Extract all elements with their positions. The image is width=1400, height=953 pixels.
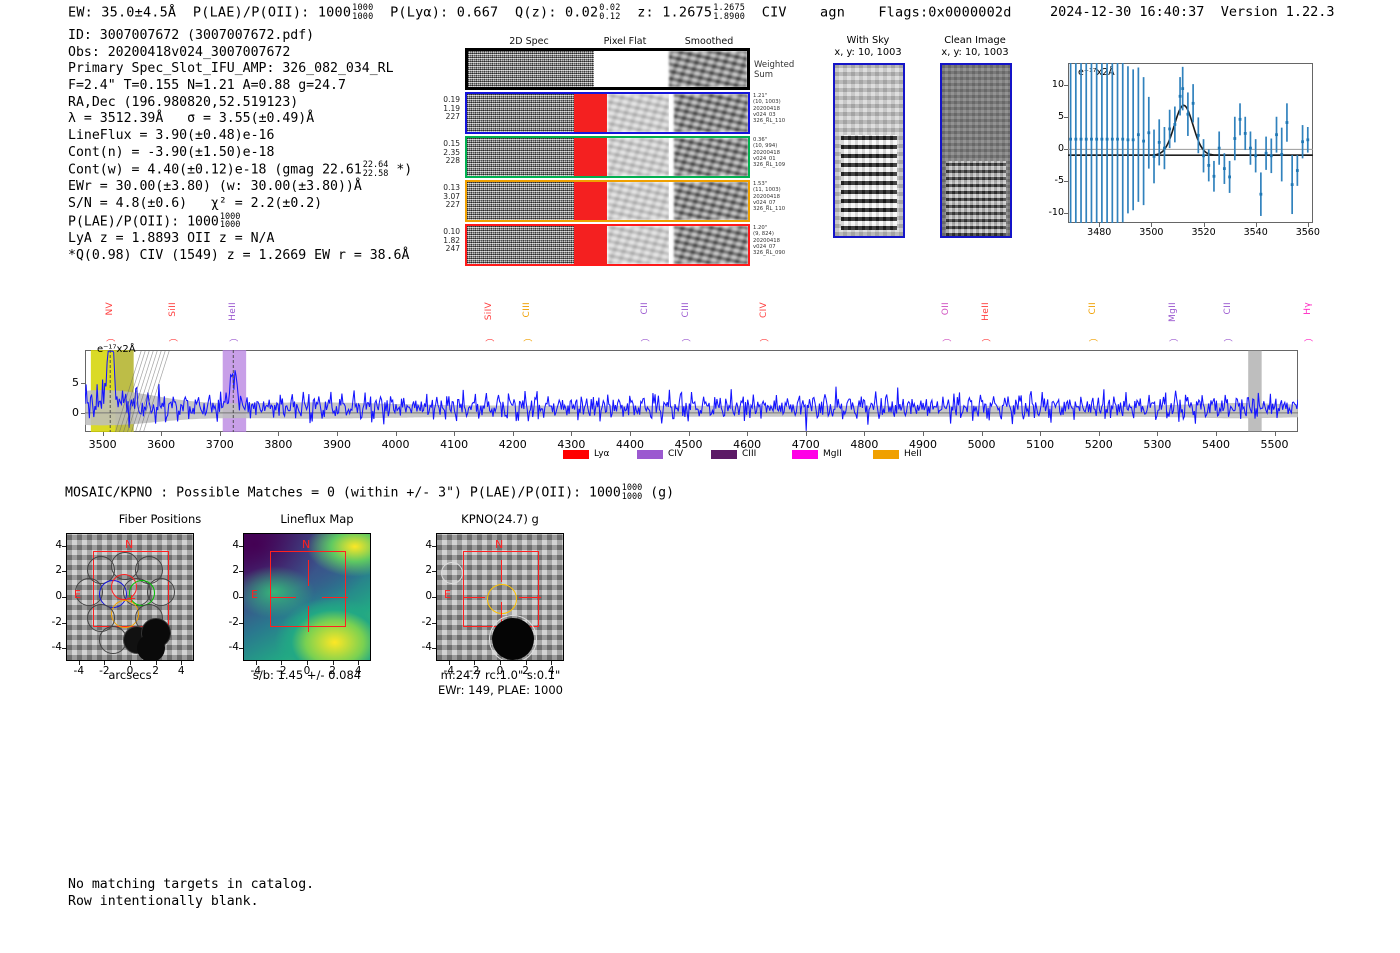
info-obs: Obs: 20200418v024_3007007672: [68, 45, 412, 62]
emission-line-label: CII: [1088, 302, 1098, 315]
full-spectrum-y-tick: 0: [59, 406, 79, 419]
full-spectrum-x-tick: 5200: [1069, 438, 1129, 451]
full-spectrum-x-tick: 5000: [952, 438, 1012, 451]
fiber-right-labels-2: 0.36" (10, 994) 20200418 v024_01 326_RL_…: [753, 137, 785, 168]
full-spectrum-x-tick: 3600: [131, 438, 191, 451]
info-redshifts: LyA z = 1.8893 OII z = N/A: [68, 231, 412, 248]
axis-tick-y: 2: [42, 564, 62, 576]
fiber-right-labels-4: 1.20" (9, 824) 20200418 v024_07 326_RL_0…: [753, 225, 785, 256]
lineflux-map-image[interactable]: N E: [243, 533, 371, 661]
emission-line-label: HeII: [981, 302, 991, 321]
info-ewr: EWr = 30.00(±3.80) (w: 30.00(±3.80))Å: [68, 179, 412, 196]
compass-east-label-3: E: [444, 588, 451, 601]
info-cont-n: Cont(n) = -3.90(±1.50)e-18: [68, 145, 412, 162]
axis-tick-y: 0: [412, 590, 432, 602]
header-timestamp: 2024-12-30 16:40:37: [1050, 4, 1204, 20]
header-classification: agn: [820, 5, 845, 21]
axis-tick-y: 2: [219, 564, 239, 576]
info-plae-lo: 1000: [220, 220, 240, 230]
full-spectrum-x-tick: 4200: [483, 438, 543, 451]
info-cont-w-text: Cont(w) = 4.40(±0.12)e-18 (gmag 22.61: [68, 163, 362, 178]
emission-line-label: SiII: [168, 302, 178, 317]
compass-north-label-3: N: [495, 538, 503, 551]
line-profile-x-tick: 3500: [1125, 227, 1177, 238]
header-z-lo: 1.8900: [713, 12, 745, 22]
header-plae-label: P(LAE)/P(OII): 1000: [193, 5, 351, 21]
info-id: ID: 3007007672 (3007007672.pdf): [68, 28, 412, 45]
fiber-strip-3: [465, 180, 750, 222]
legend-swatch: [873, 450, 899, 459]
crosshair-v-bottom: [308, 606, 309, 632]
info-seeing: F=2.4" T=0.155 N=1.21 A=0.88 g=24.7: [68, 78, 412, 95]
kpno-faint-source: [441, 562, 463, 584]
full-spectrum-x-tick: 5400: [1186, 438, 1246, 451]
compass-east-label-1: E: [74, 588, 81, 601]
axis-tick-y: -4: [412, 641, 432, 653]
header-timestamp-block: 2024-12-30 16:40:37 Version 1.22.3: [1050, 4, 1335, 20]
header-ew: EW: 35.0±4.5Å: [68, 5, 176, 21]
emission-line-label: NV: [105, 302, 115, 316]
emission-line-marker: ⌒: [1224, 337, 1233, 350]
line-profile-y-tick: 0: [1026, 143, 1064, 154]
fiber-right-labels-3: 1.53" (11, 1003) 20200418 v024_07 326_RL…: [753, 181, 785, 212]
weighted-sum-label: WeightedSum: [754, 60, 800, 80]
mosaic-headline-text: MOSAIC/KPNO : Possible Matches = 0 (with…: [65, 486, 621, 501]
kpno-xlabel: m:24.7 rc:1.0" s:0.1": [428, 668, 573, 682]
axis-tick-y: -2: [42, 616, 62, 628]
header-qz-label: Q(z): 0.02: [515, 5, 598, 21]
info-solution: *Q(0.98) CIV (1549) z = 1.2669 EW r = 38…: [68, 248, 412, 265]
full-spectrum-y-tick: 5: [59, 376, 79, 389]
weighted-sum-strip: [465, 48, 750, 90]
cutout-clean-image[interactable]: [940, 63, 1012, 238]
crosshair-h-left: [463, 597, 485, 598]
crosshair-h-left: [270, 597, 296, 598]
axis-tick-y: 0: [42, 590, 62, 602]
emission-line-marker: ⌒: [641, 337, 650, 350]
fiber-right-labels-1: 1.21" (10, 1003) 20200418 v024_03 326_RL…: [753, 93, 785, 124]
header-plae-lo: 1000: [352, 12, 373, 22]
source-info-block: ID: 3007007672 (3007007672.pdf) Obs: 202…: [68, 28, 412, 264]
emission-line-marker: ⌒: [169, 337, 178, 350]
fiber-center-marker: +: [127, 592, 136, 605]
emission-line-label: CIII: [681, 302, 691, 317]
legend-label: MgII: [823, 449, 842, 459]
info-sn: S/N = 4.8(±0.6): [68, 196, 187, 211]
legend-label: Lyα: [594, 449, 609, 459]
footer-line-2: Row intentionally blank.: [68, 893, 314, 910]
emission-line-marker: ⌒: [682, 337, 691, 350]
emission-line-label: HeII: [228, 302, 238, 321]
legend-swatch: [563, 450, 589, 459]
legend-label: HeII: [904, 449, 922, 459]
cutout-caption-with-sky: With Sky x, y: 10, 1003: [818, 35, 918, 59]
axis-tick-y: 2: [412, 564, 432, 576]
info-cont-w-lo: 22.58: [363, 169, 389, 179]
line-profile-y-tick: -5: [1026, 175, 1064, 186]
line-profile-x-tick: 3520: [1178, 227, 1230, 238]
full-spectrum-x-tick: 3500: [73, 438, 133, 451]
line-profile-y-tick: -10: [1026, 207, 1064, 218]
crosshair-h-right: [519, 597, 541, 598]
line-profile-y-tick: 5: [1026, 111, 1064, 122]
full-spectrum-x-tick: 3700: [190, 438, 250, 451]
axis-tick-y: 4: [219, 539, 239, 551]
fiber-strip-1: [465, 92, 750, 134]
legend-label: CIV: [668, 449, 683, 459]
info-lambda-sigma: λ = 3512.39Å σ = 3.55(±0.49)Å: [68, 111, 412, 128]
lineflux-map-title: Lineflux Map: [222, 512, 412, 526]
legend-swatch: [711, 450, 737, 459]
fiber-positions-image[interactable]: + N E: [66, 533, 194, 661]
info-primary-spec: Primary Spec_Slot_IFU_AMP: 326_082_034_R…: [68, 61, 412, 78]
axis-tick-y: 0: [219, 590, 239, 602]
header-version: Version 1.22.3: [1221, 4, 1335, 20]
info-plae: P(LAE)/P(OII): 100010001000: [68, 213, 412, 231]
axis-tick-y: -4: [42, 641, 62, 653]
axis-tick-y: -2: [412, 616, 432, 628]
axis-tick-y: 4: [412, 539, 432, 551]
panel-title-smoothed: Smoothed: [674, 36, 744, 47]
kpno-source-halo: [489, 615, 537, 661]
full-spectrum-x-tick: 5100: [1010, 438, 1070, 451]
emission-line-marker: ⌒: [1169, 337, 1178, 350]
legend-swatch: [792, 450, 818, 459]
footer-block: No matching targets in catalog. Row inte…: [68, 876, 314, 910]
full-spectrum-x-tick: 3900: [307, 438, 367, 451]
info-lineflux: LineFlux = 3.90(±0.48)e-16: [68, 128, 412, 145]
fiber-positions-xlabel: arcsecs: [60, 668, 200, 682]
legend-swatch: [637, 450, 663, 459]
header-plya: P(Lyα): 0.667: [390, 5, 498, 21]
emission-line-label: CIV: [759, 302, 769, 318]
emission-line-marker: ⌒: [982, 337, 991, 350]
full-spectrum-x-tick: 4900: [893, 438, 953, 451]
emission-line-marker: ⌒: [1089, 337, 1098, 350]
emission-line-label: MgII: [1168, 302, 1178, 322]
cutout-with-sky[interactable]: [833, 63, 905, 238]
line-profile-plot-svg: [1068, 63, 1313, 223]
full-spectrum-x-tick: 5300: [1127, 438, 1187, 451]
panel-title-pixelflat: Pixel Flat: [590, 36, 660, 47]
info-lambda: λ = 3512.39Å: [68, 111, 163, 126]
full-spectrum-units: e⁻¹⁷x2Å: [97, 344, 136, 355]
legend-label: CIII: [742, 449, 756, 459]
info-chi2: χ² = 2.2(±0.2): [211, 196, 322, 211]
emission-line-label: OII: [941, 302, 951, 315]
mosaic-headline-tail: (g): [650, 486, 674, 501]
header-flags: Flags:0x0000002d: [878, 5, 1011, 21]
fiber-circle-dark: [137, 634, 165, 661]
info-sigma: σ = 3.55(±0.49)Å: [187, 111, 314, 126]
emission-line-label: CII: [640, 302, 650, 315]
fiber-left-labels-4: 0.10 1.82 247: [402, 228, 460, 254]
header-z-label: z: 1.2675: [637, 5, 712, 21]
fiber-left-labels-1: 0.19 1.19 227: [402, 96, 460, 122]
axis-tick-y: -2: [219, 616, 239, 628]
lineflux-map-xlabel: s/b: 1.45 +/- 0.084: [243, 668, 371, 682]
full-spectrum-x-tick: 4100: [424, 438, 484, 451]
compass-east-label-2: E: [251, 588, 258, 601]
emission-line-label: SiIV: [484, 302, 494, 320]
axis-tick-y: -4: [219, 641, 239, 653]
kpno-title: KPNO(24.7) g: [400, 512, 600, 526]
line-profile-y-tick: 10: [1026, 79, 1064, 90]
footer-line-1: No matching targets in catalog.: [68, 876, 314, 893]
full-spectrum-plot-svg: [85, 350, 1298, 432]
info-plae-text: P(LAE)/P(OII): 1000: [68, 214, 219, 229]
emission-line-label: CIII: [522, 302, 532, 317]
fiber-left-labels-3: 0.13 3.07 227: [402, 184, 460, 210]
line-profile-x-tick: 3540: [1230, 227, 1282, 238]
line-profile-x-tick: 3560: [1282, 227, 1334, 238]
emission-line-marker: ⌒: [760, 337, 769, 350]
line-profile-x-tick: 3480: [1073, 227, 1125, 238]
kpno-image[interactable]: N E: [436, 533, 564, 661]
crosshair-h-right: [322, 597, 348, 598]
header-line-id: CIV: [762, 5, 787, 21]
cutout-caption-clean-image: Clean Image x, y: 10, 1003: [920, 35, 1030, 59]
panel-title-2dspec: 2D Spec: [494, 36, 564, 47]
emission-line-marker: ⌒: [523, 337, 532, 350]
emission-line-label: Hγ: [1303, 302, 1313, 315]
emission-line-marker: ⌒: [485, 337, 494, 350]
crosshair-v-top: [308, 560, 309, 586]
fiber-strip-2: [465, 136, 750, 178]
axis-tick-y: 4: [42, 539, 62, 551]
line-profile-chart: e⁻¹⁷x2Å -10-50510 34803500352035403560: [1040, 55, 1325, 255]
info-cont-w: Cont(w) = 4.40(±0.12)e-18 (gmag 22.6122.…: [68, 161, 412, 179]
fiber-strip-4: [465, 224, 750, 266]
full-spectrum-x-tick: 4000: [366, 438, 426, 451]
compass-north-label-2: N: [302, 538, 310, 551]
full-spectrum-x-tick: 5500: [1245, 438, 1305, 451]
compass-north-label-1: N: [125, 538, 133, 551]
info-sn-chi2: S/N = 4.8(±0.6) χ² = 2.2(±0.2): [68, 196, 412, 213]
full-spectrum-x-tick: 3800: [248, 438, 308, 451]
full-spectrum-chart: e⁻¹⁷x2Å NV⌒SiII⌒HeII⌒SiIV⌒CIII⌒CII⌒CIII⌒…: [85, 350, 1298, 432]
emission-line-label: CII: [1223, 302, 1233, 315]
emission-line-marker: ⌒: [1304, 337, 1313, 350]
header-summary-line: EW: 35.0±4.5Å P(LAE)/P(OII): 10001000100…: [68, 4, 1012, 21]
mosaic-headline: MOSAIC/KPNO : Possible Matches = 0 (with…: [65, 484, 674, 501]
info-radec: RA,Dec (196.980820,52.519123): [68, 95, 412, 112]
header-qz-lo: 0.12: [599, 12, 620, 22]
emission-line-marker: ⌒: [942, 337, 951, 350]
crosshair-v-top: [501, 560, 502, 582]
kpno-sublabel: EWr: 149, PLAE: 1000: [428, 683, 573, 697]
fiber-left-labels-2: 0.15 2.35 228: [402, 140, 460, 166]
emission-line-marker: ⌒: [229, 337, 238, 350]
